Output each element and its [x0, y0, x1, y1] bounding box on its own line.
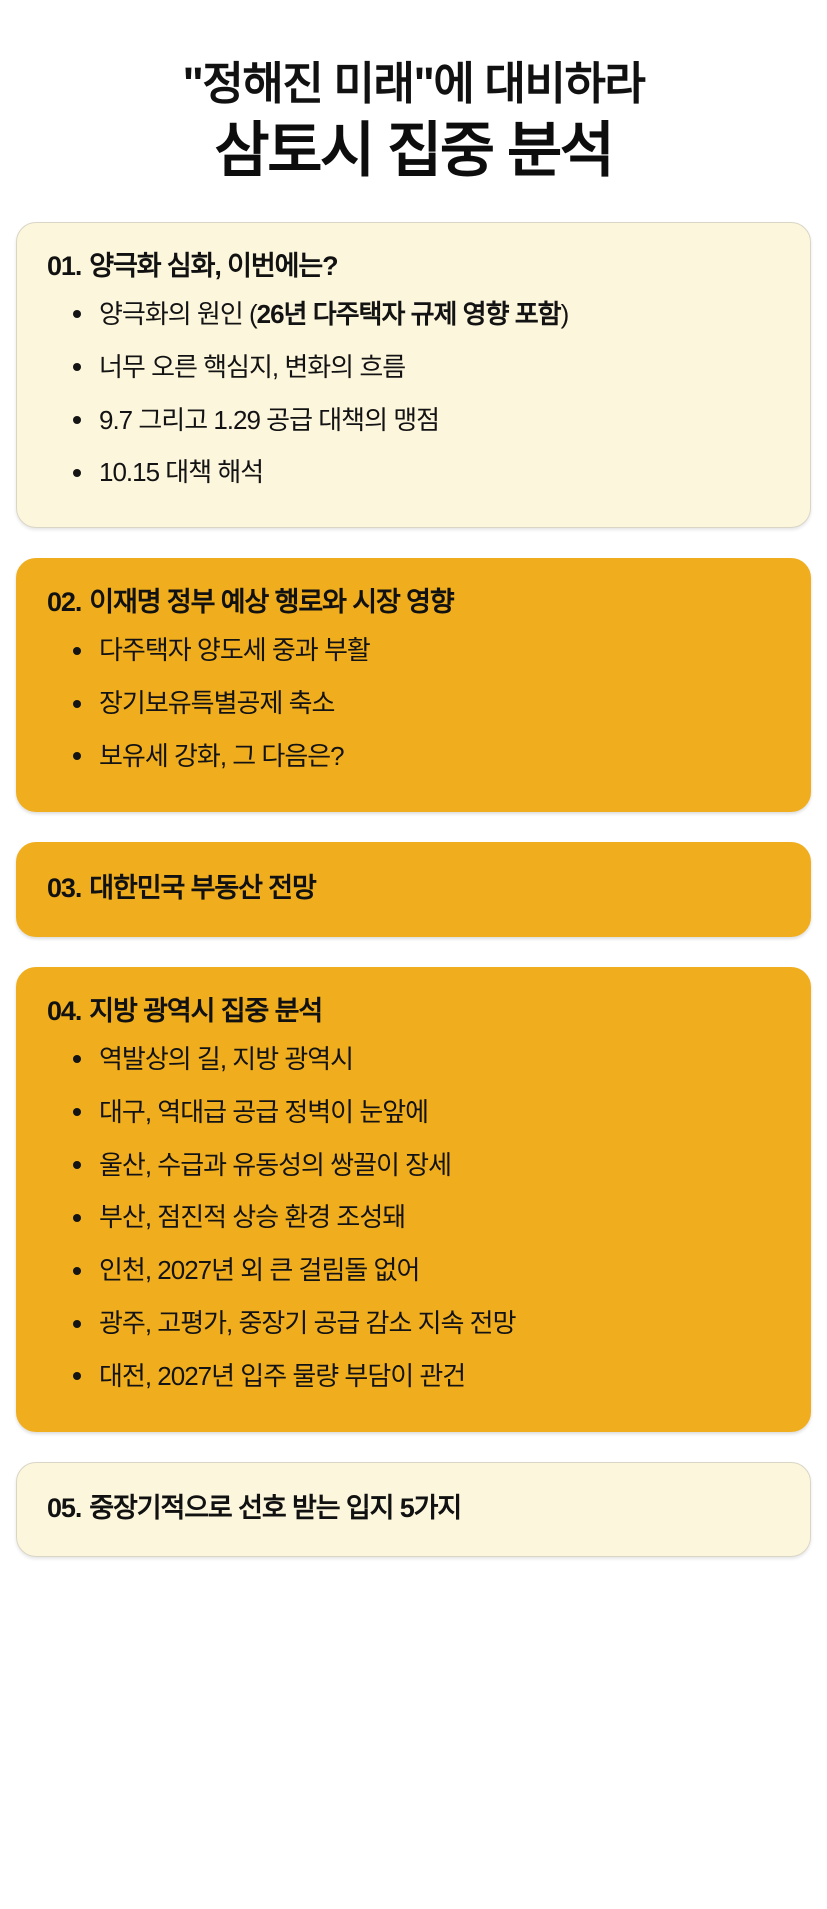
bullet-item: 양극화의 원인 (26년 다주택자 규제 영향 포함)	[69, 288, 780, 341]
card-number: 01.	[47, 249, 81, 284]
card-heading: 03.대한민국 부동산 전망	[47, 871, 780, 906]
bullet-text: 울산, 수급과 유동성의 쌍끌이 장세	[99, 1150, 451, 1180]
bullet-text: 대전, 2027년 입주 물량 부담이 관건	[99, 1361, 465, 1391]
bullet-item: 너무 오른 핵심지, 변화의 흐름	[69, 341, 780, 394]
card-list: 01.양극화 심화, 이번에는?양극화의 원인 (26년 다주택자 규제 영향 …	[12, 222, 815, 1557]
bullet-item: 인천, 2027년 외 큰 걸림돌 없어	[69, 1244, 780, 1297]
card-number: 05.	[47, 1491, 81, 1526]
bullet-item: 광주, 고평가, 중장기 공급 감소 지속 전망	[69, 1297, 780, 1350]
bullet-item: 역발상의 길, 지방 광역시	[69, 1033, 780, 1086]
bullet-text: 10.15 대책 해석	[99, 457, 263, 487]
bullet-item: 9.7 그리고 1.29 공급 대책의 맹점	[69, 394, 780, 447]
section-card-04[interactable]: 04.지방 광역시 집중 분석역발상의 길, 지방 광역시대구, 역대급 공급 …	[16, 967, 811, 1432]
card-number: 04.	[47, 994, 81, 1029]
bullet-text: 양극화의 원인 (	[99, 299, 257, 329]
card-heading: 02.이재명 정부 예상 행로와 시장 영향	[47, 585, 780, 620]
card-heading-text: 이재명 정부 예상 행로와 시장 영향	[89, 585, 453, 620]
page-header: "정해진 미래"에 대비하라 삼토시 집중 분석	[12, 0, 815, 222]
page-title: 삼토시 집중 분석	[12, 116, 815, 186]
bullet-list: 다주택자 양도세 중과 부활장기보유특별공제 축소보유세 강화, 그 다음은?	[47, 624, 780, 782]
bullet-text: 인천, 2027년 외 큰 걸림돌 없어	[99, 1255, 419, 1285]
bullet-text: 다주택자 양도세 중과 부활	[99, 635, 370, 665]
bullet-text: 9.7 그리고 1.29 공급 대책의 맹점	[99, 405, 439, 435]
section-card-05[interactable]: 05.중장기적으로 선호 받는 입지 5가지	[16, 1462, 811, 1557]
card-heading-text: 대한민국 부동산 전망	[89, 871, 315, 906]
card-number: 02.	[47, 585, 81, 620]
bullet-text-suffix: )	[561, 299, 569, 329]
infographic-page: "정해진 미래"에 대비하라 삼토시 집중 분석 01.양극화 심화, 이번에는…	[0, 0, 827, 1909]
section-card-03[interactable]: 03.대한민국 부동산 전망	[16, 842, 811, 937]
bullet-text: 역발상의 길, 지방 광역시	[99, 1044, 353, 1074]
header-subtitle: "정해진 미래"에 대비하라	[12, 58, 815, 110]
bullet-text: 보유세 강화, 그 다음은?	[99, 741, 344, 771]
card-heading: 01.양극화 심화, 이번에는?	[47, 249, 780, 284]
bullet-item: 대구, 역대급 공급 정벽이 눈앞에	[69, 1086, 780, 1139]
bullet-text: 너무 오른 핵심지, 변화의 흐름	[99, 352, 405, 382]
bullet-item: 다주택자 양도세 중과 부활	[69, 624, 780, 677]
section-card-02[interactable]: 02.이재명 정부 예상 행로와 시장 영향다주택자 양도세 중과 부활장기보유…	[16, 558, 811, 812]
bullet-item: 장기보유특별공제 축소	[69, 677, 780, 730]
card-heading-text: 지방 광역시 집중 분석	[89, 994, 322, 1029]
bullet-text: 장기보유특별공제 축소	[99, 688, 334, 718]
card-heading-text: 중장기적으로 선호 받는 입지 5가지	[89, 1491, 461, 1526]
card-heading: 04.지방 광역시 집중 분석	[47, 994, 780, 1029]
bullet-item: 대전, 2027년 입주 물량 부담이 관건	[69, 1350, 780, 1403]
card-heading-text: 양극화 심화, 이번에는?	[89, 249, 337, 284]
bullet-list: 역발상의 길, 지방 광역시대구, 역대급 공급 정벽이 눈앞에울산, 수급과 …	[47, 1033, 780, 1403]
bullet-item: 부산, 점진적 상승 환경 조성돼	[69, 1191, 780, 1244]
bullet-item: 울산, 수급과 유동성의 쌍끌이 장세	[69, 1139, 780, 1192]
bullet-text: 광주, 고평가, 중장기 공급 감소 지속 전망	[99, 1308, 516, 1338]
bullet-item: 10.15 대책 해석	[69, 446, 780, 499]
bullet-text-emphasis: 26년 다주택자 규제 영향 포함	[257, 299, 561, 329]
card-number: 03.	[47, 871, 81, 906]
section-card-01[interactable]: 01.양극화 심화, 이번에는?양극화의 원인 (26년 다주택자 규제 영향 …	[16, 222, 811, 528]
bullet-item: 보유세 강화, 그 다음은?	[69, 730, 780, 783]
bullet-text: 대구, 역대급 공급 정벽이 눈앞에	[99, 1097, 428, 1127]
bullet-text: 부산, 점진적 상승 환경 조성돼	[99, 1202, 405, 1232]
card-heading: 05.중장기적으로 선호 받는 입지 5가지	[47, 1491, 780, 1526]
bullet-list: 양극화의 원인 (26년 다주택자 규제 영향 포함)너무 오른 핵심지, 변화…	[47, 288, 780, 499]
